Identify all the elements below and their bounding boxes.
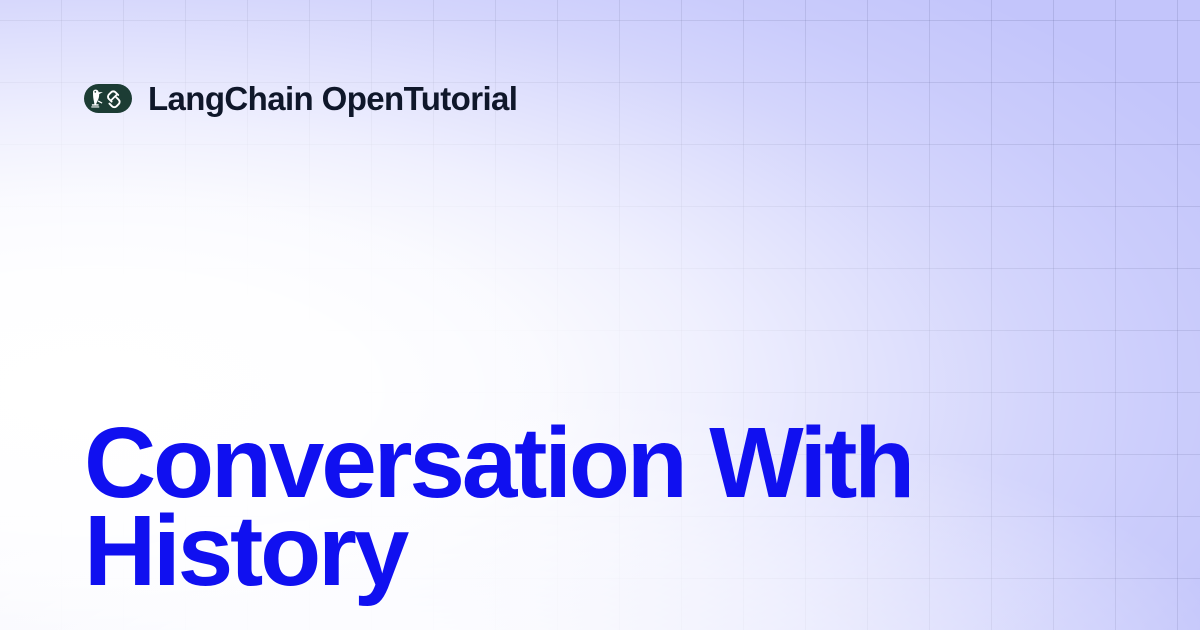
brand-lockup: LangChain OpenTutorial [84,82,517,115]
brand-name: LangChain OpenTutorial [148,82,517,115]
langchain-parrot-link-icon [84,84,132,113]
page-title: Conversation With History [84,419,1064,595]
card-content: LangChain OpenTutorial Conversation With… [0,0,1200,630]
og-card: LangChain OpenTutorial Conversation With… [0,0,1200,630]
